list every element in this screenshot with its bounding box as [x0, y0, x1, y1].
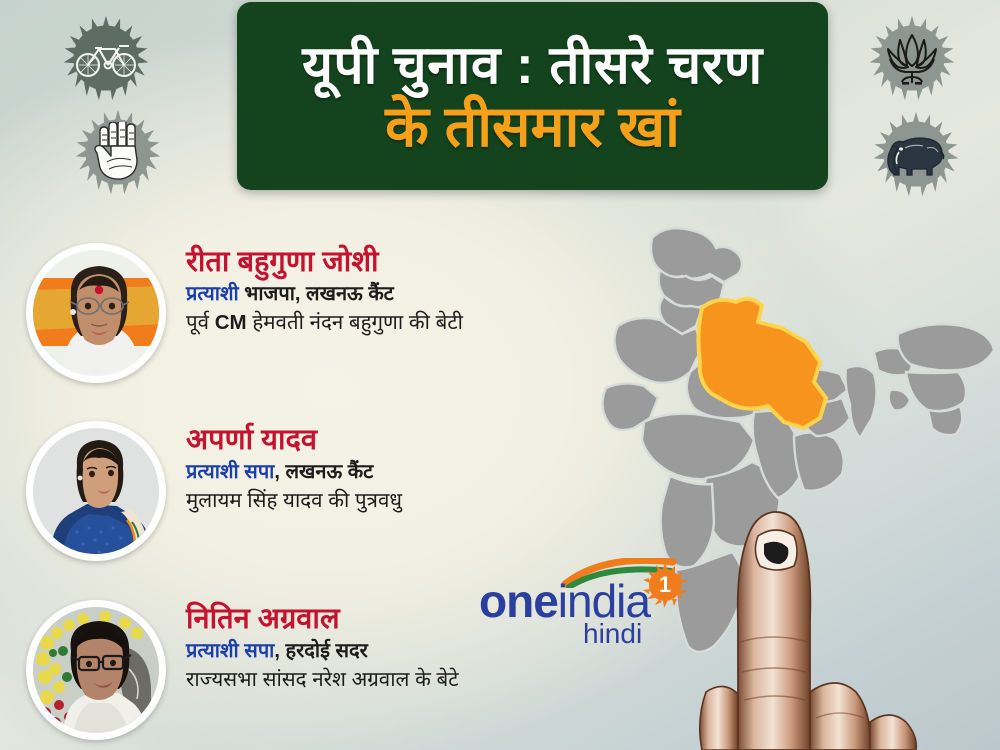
candidate-note-prefix: मुलायम सिंह यादव की पुत्रवधु	[186, 489, 402, 512]
elephant-icon	[872, 110, 960, 198]
candidate-seat: , लखनऊ कैंट	[274, 461, 373, 483]
title-line-1: यूपी चुनाव : तीसरे चरण	[302, 38, 762, 93]
candidate-note-prefix: राज्यसभा सांसद नरेश अग्रवाल के बेटे	[186, 668, 459, 691]
candidate-row: अपर्णा यादव प्रत्याशी सपा, लखनऊ कैंट मुल…	[26, 421, 586, 573]
candidate-role-label: प्रत्याशी	[186, 283, 239, 305]
inked-finger	[700, 512, 917, 750]
infographic-canvas: यूपी चुनाव : तीसरे चरण के तीसमार खां	[0, 0, 1000, 750]
badge-number: 1	[642, 562, 688, 608]
party-badge-bicycle	[62, 14, 150, 102]
party-badge-lotus	[868, 14, 956, 102]
logo-hindi-text: hindi	[583, 618, 642, 650]
bicycle-icon	[62, 14, 150, 102]
candidate-seat: भाजपा, लखनऊ कैंट	[239, 283, 394, 305]
india-map-graphic	[598, 222, 1000, 750]
candidate-note: पूर्व CM हेमवती नंदन बहुगुणा की बेटी	[186, 309, 586, 337]
candidate-role-label: प्रत्याशी सपा	[186, 640, 274, 662]
lotus-icon	[868, 14, 956, 102]
title-line-2: के तीसमार खां	[385, 97, 680, 157]
candidate-note-suffix: हेमवती नंदन बहुगुणा की बेटी	[247, 311, 463, 334]
number-one-badge: 1	[642, 562, 688, 608]
candidate-name: अपर्णा यादव	[186, 423, 586, 457]
party-badge-elephant	[872, 110, 960, 198]
rita-bahuguna-joshi-photo	[26, 243, 166, 383]
candidate-party-seat: प्रत्याशी भाजपा, लखनऊ कैंट	[186, 281, 586, 308]
hand-icon	[74, 108, 162, 196]
title-plate: यूपी चुनाव : तीसरे चरण के तीसमार खां	[237, 2, 828, 190]
candidate-note: मुलायम सिंह यादव की पुत्रवधु	[186, 487, 586, 515]
candidate-text: रीता बहुगुणा जोशी प्रत्याशी भाजपा, लखनऊ …	[186, 245, 586, 337]
nitin-agrawal-photo	[26, 600, 166, 740]
aparna-yadav-photo	[26, 421, 166, 561]
candidate-seat: , हरदोई सदर	[274, 640, 367, 662]
candidate-text: अपर्णा यादव प्रत्याशी सपा, लखनऊ कैंट मुल…	[186, 423, 586, 515]
candidate-note-bold: CM	[215, 311, 247, 334]
candidate-role-label: प्रत्याशी सपा	[186, 461, 274, 483]
logo-one-text: one	[479, 575, 558, 627]
candidate-party-seat: प्रत्याशी सपा, लखनऊ कैंट	[186, 459, 586, 486]
candidate-name: रीता बहुगुणा जोशी	[186, 245, 586, 279]
oneindia-hindi-logo[interactable]: oneindia hindi 1	[479, 556, 694, 656]
candidate-note: राज्यसभा सांसद नरेश अग्रवाल के बेटे	[186, 666, 586, 694]
party-badge-hand	[74, 108, 162, 196]
candidate-note-prefix: पूर्व	[186, 311, 215, 334]
candidate-row: रीता बहुगुणा जोशी प्रत्याशी भाजपा, लखनऊ …	[26, 243, 586, 395]
